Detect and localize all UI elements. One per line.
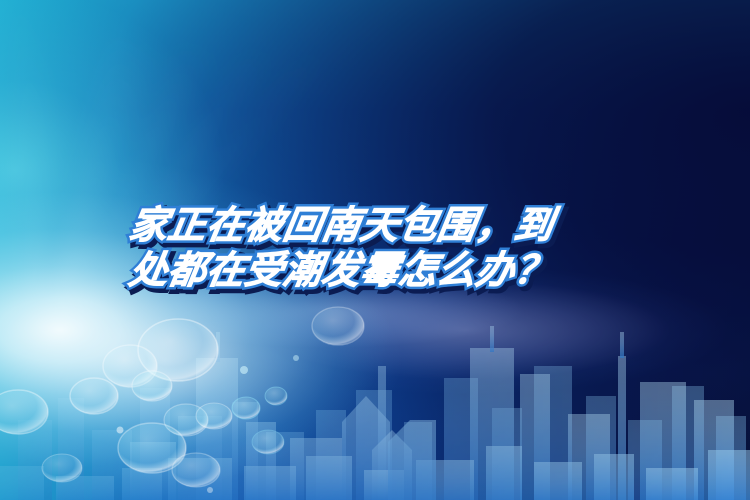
bubble-cluster bbox=[0, 300, 460, 500]
headline-line-2-fill: 处都在受潮发霉怎么办？ bbox=[126, 247, 550, 302]
headline-line-2: 处都在受潮发霉怎么办？ 处都在受潮发霉怎么办？ 处都在受潮发霉怎么办？ bbox=[126, 247, 646, 294]
banner-canvas: 家正在被回南天包围，到 家正在被回南天包围，到 家正在被回南天包围，到 处都在受… bbox=[0, 0, 750, 500]
headline-text-block: 家正在被回南天包围，到 家正在被回南天包围，到 家正在被回南天包围，到 处都在受… bbox=[126, 202, 646, 294]
headline-line-1: 家正在被回南天包围，到 家正在被回南天包围，到 家正在被回南天包围，到 bbox=[126, 202, 646, 249]
